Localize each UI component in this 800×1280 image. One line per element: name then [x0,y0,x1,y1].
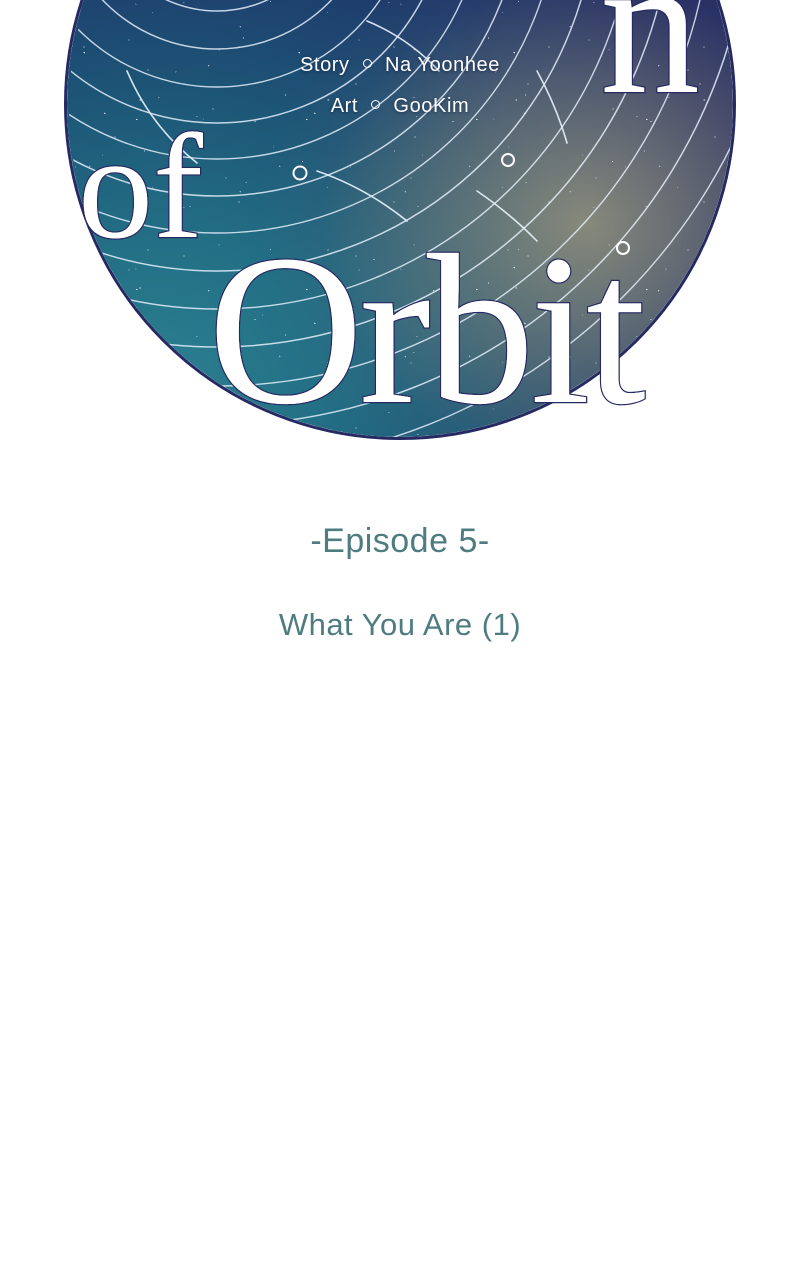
cover-art: n of of Orbit Orbit Story Na Yoonhee Art… [0,0,800,440]
credits-block: Story Na Yoonhee Art GooKim [0,54,800,136]
credit-art-name: GooKim [393,95,469,117]
ring-separator-icon [371,100,380,109]
credit-art-role: Art [331,95,358,117]
credit-art: Art GooKim [0,95,800,118]
credit-story: Story Na Yoonhee [0,54,800,77]
credit-story-name: Na Yoonhee [385,54,500,76]
episode-heading-block: -Episode 5- What You Are (1) [0,522,800,643]
ring-separator-icon [363,59,372,68]
episode-number: -Episode 5- [0,522,800,561]
credit-story-role: Story [300,54,350,76]
episode-title: What You Are (1) [0,607,800,643]
